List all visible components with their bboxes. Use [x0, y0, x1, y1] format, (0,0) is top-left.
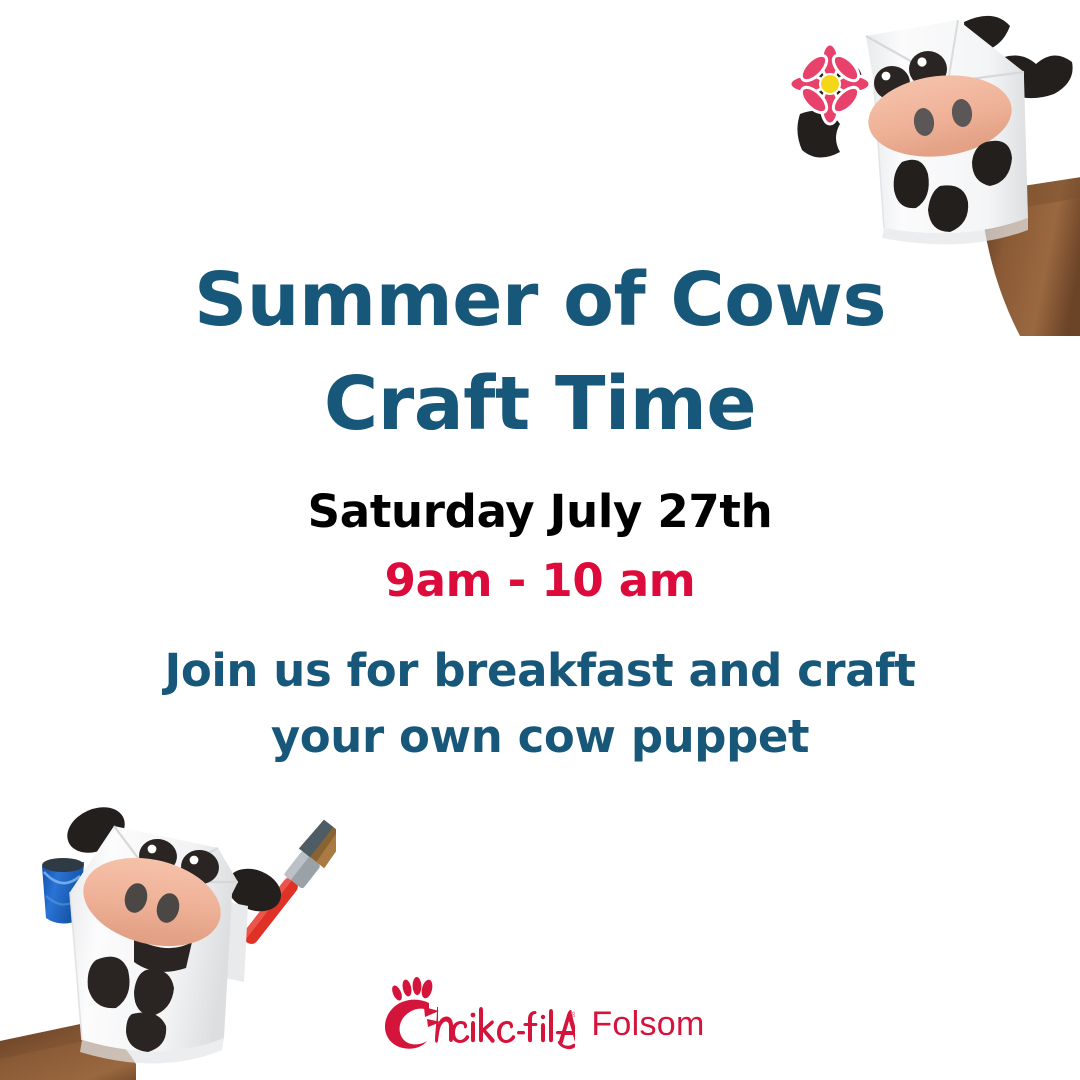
- poster-text-block: Summer of Cows Craft Time Saturday July …: [0, 248, 1080, 770]
- logo-location-label: Folsom: [591, 1005, 704, 1044]
- description-line-1: Join us for breakfast and craft: [0, 638, 1080, 704]
- headline-line-1: Summer of Cows: [0, 248, 1080, 352]
- poster-canvas: Summer of Cows Craft Time Saturday July …: [0, 0, 1080, 1080]
- headline-line-2: Craft Time: [0, 352, 1080, 456]
- event-date: Saturday July 27th: [0, 476, 1080, 548]
- chick-fil-a-logo-row: ® Folsom: [0, 972, 1080, 1058]
- event-time: 9am - 10 am: [0, 548, 1080, 614]
- chick-fil-a-logo-icon: ®: [375, 977, 575, 1053]
- description-line-2: your own cow puppet: [0, 704, 1080, 770]
- registered-mark: ®: [571, 1011, 575, 1019]
- pink-flower-sticker-icon: [790, 44, 870, 124]
